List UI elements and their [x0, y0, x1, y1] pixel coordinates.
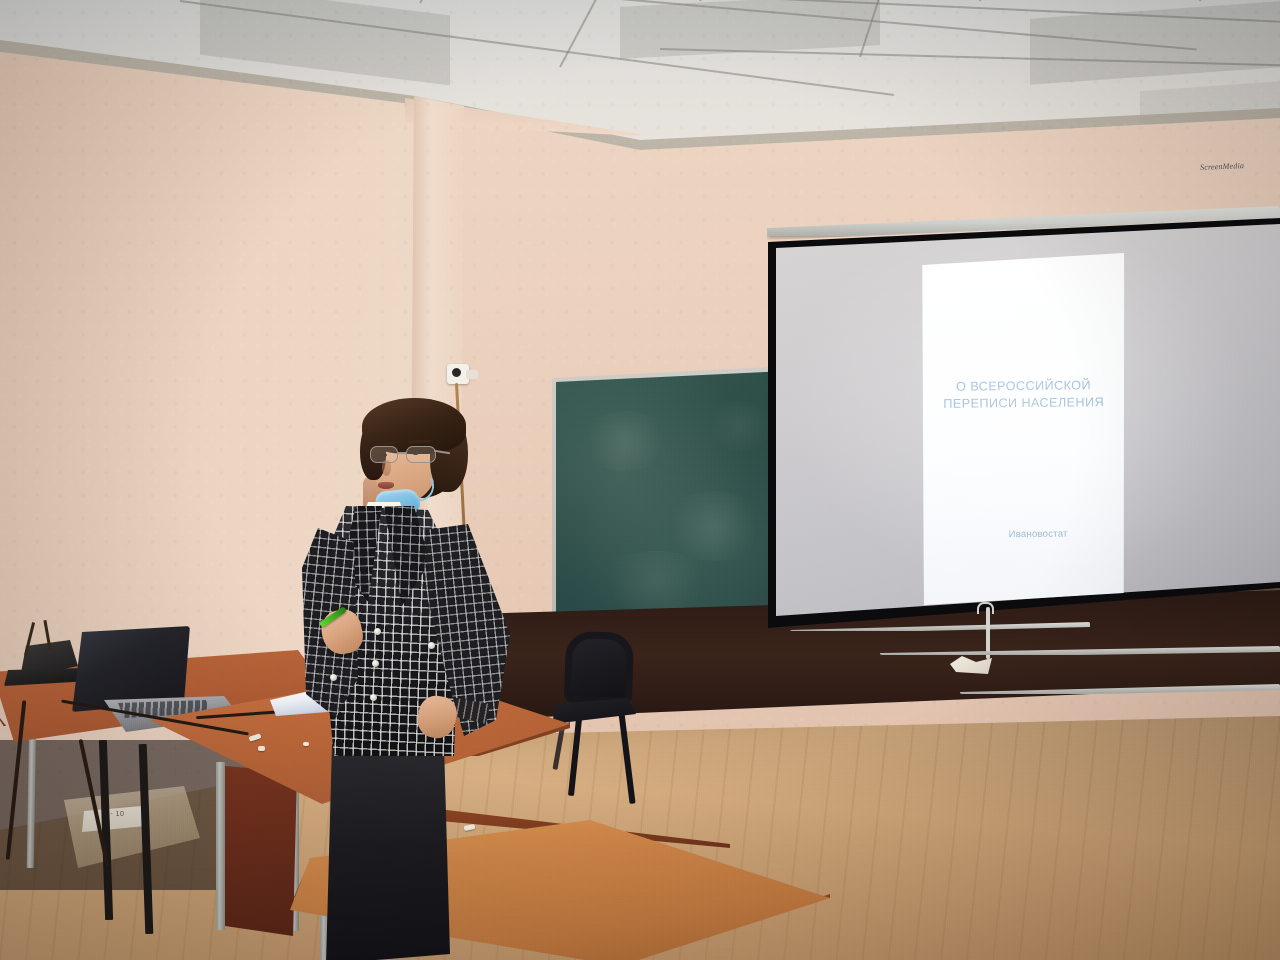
jacket-button — [370, 694, 377, 701]
jacket-button — [372, 660, 379, 667]
projected-slide: О ВСЕРОССИЙСКОЙ ПЕРЕПИСИ НАСЕЛЕНИЯ Ивано… — [920, 253, 1128, 605]
nose — [382, 460, 391, 476]
desk-side-panel — [225, 766, 297, 936]
classroom-photo: ScreenMedia О ВСЕРОССИЙСКОЙ ПЕРЕПИСИ НАС… — [0, 0, 1280, 960]
slide-title: О ВСЕРОССИЙСКОЙ ПЕРЕПИСИ НАСЕЛЕНИЯ — [935, 377, 1111, 414]
mouth — [378, 482, 394, 489]
chair-backrest[interactable] — [564, 631, 634, 705]
jacket-button — [330, 674, 337, 681]
eyeglasses-icon — [370, 446, 442, 464]
jacket-button — [428, 642, 435, 649]
desk-leg — [216, 762, 225, 930]
slide-footer-organization: Ивановостат — [937, 528, 1113, 541]
presenter — [300, 398, 530, 960]
chalk-piece — [258, 746, 265, 751]
screen-brand-label: ScreenMedia — [1200, 161, 1244, 172]
jacket-button — [374, 628, 381, 635]
presenter-skirt — [324, 744, 450, 960]
socket-cover — [466, 370, 478, 379]
